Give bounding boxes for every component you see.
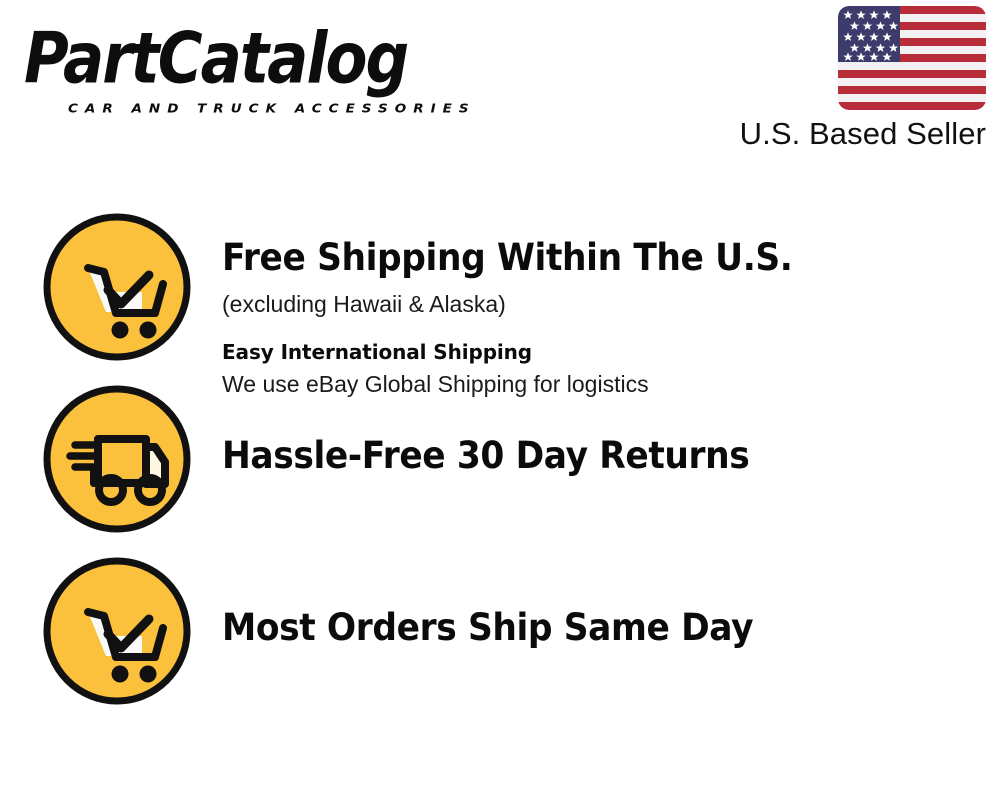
feature-row: Free Shipping Within The U.S. (excluding… xyxy=(0,212,1000,399)
feature-row: Hassle-Free 30 Day Returns xyxy=(0,384,1000,534)
feature-heading: Hassle-Free 30 Day Returns xyxy=(222,434,946,478)
feature-row: Most Orders Ship Same Day xyxy=(0,556,1000,706)
shopping-cart-check-icon xyxy=(42,556,192,706)
brand-tagline: CAR AND TRUCK ACCESSORIES xyxy=(68,101,476,116)
feature-subtext-strong: Easy International Shipping xyxy=(222,339,1000,366)
brand-wordmark: PartCatalog xyxy=(24,22,480,96)
us-flag-icon xyxy=(838,6,986,110)
delivery-truck-icon xyxy=(42,384,192,534)
feature-text: Most Orders Ship Same Day xyxy=(222,556,1000,650)
seller-label: U.S. Based Seller xyxy=(716,116,986,152)
feature-subtext: (excluding Hawaii & Alaska) xyxy=(222,289,1000,319)
banner-header: PartCatalog CAR AND TRUCK ACCESSORIES xyxy=(0,0,1000,175)
seller-badge: U.S. Based Seller xyxy=(716,6,986,152)
feature-text: Free Shipping Within The U.S. (excluding… xyxy=(222,212,1000,399)
feature-heading: Most Orders Ship Same Day xyxy=(222,606,946,650)
feature-heading: Free Shipping Within The U.S. xyxy=(222,236,946,280)
shopping-cart-check-icon xyxy=(42,212,192,362)
brand-logo: PartCatalog CAR AND TRUCK ACCESSORIES xyxy=(24,22,494,117)
feature-text: Hassle-Free 30 Day Returns xyxy=(222,384,1000,478)
